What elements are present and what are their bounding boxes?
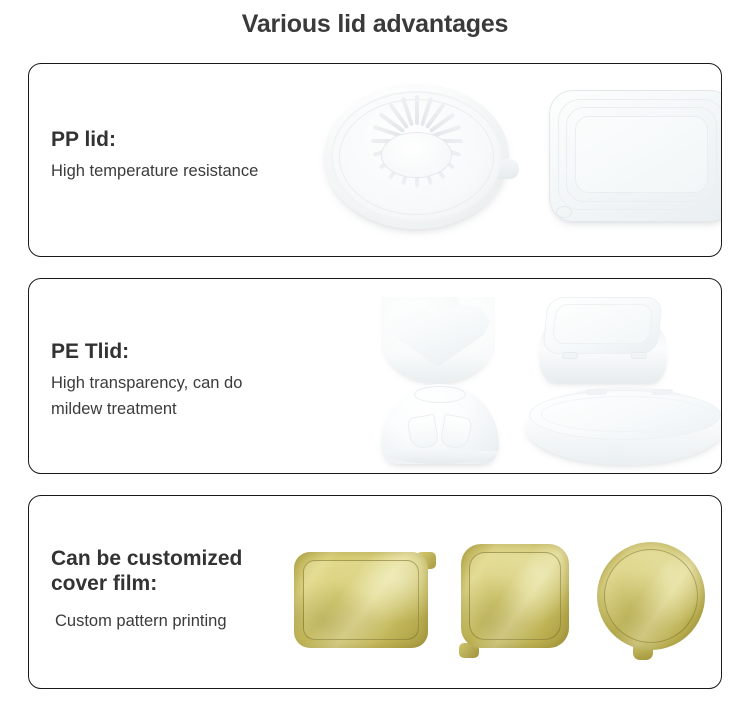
cover-film-text-block: Can be customized cover film: Custom pat… (51, 546, 276, 635)
rect-lid-center-panel (575, 116, 708, 193)
page-title: Various lid advantages (0, 10, 750, 39)
gold-round-lid-inner-panel (604, 549, 698, 643)
round-gold-foil-lid-image (595, 542, 713, 662)
card-customized-cover-film: Can be customized cover film: Custom pat… (28, 495, 722, 689)
oval-lid-tab (651, 389, 673, 395)
square-lid-center-panel (552, 304, 654, 344)
dome-lid-straw-hole (414, 386, 466, 404)
dome-pe-lid-image (381, 384, 499, 464)
square-pe-lid-image (539, 297, 667, 389)
pe-lid-description: High transparency, can do mildew treatme… (51, 371, 266, 422)
cover-film-description: Custom pattern printing (51, 609, 276, 635)
gold-rect-lid-inner-panel (303, 560, 419, 640)
pp-lid-text-block: PP lid: High temperature resistance (51, 127, 258, 185)
round-pp-lid-image (324, 84, 509, 229)
pp-lid-description: High temperature resistance (51, 159, 258, 185)
card-pp-lid: PP lid: High temperature resistance (28, 63, 722, 257)
rectangular-pp-lid-image (549, 90, 722, 222)
oval-lid-center-panel (541, 396, 709, 432)
heart-pe-lid-image (379, 297, 497, 389)
oval-lid-tab (605, 445, 627, 451)
pe-lid-heading: PE Tlid: (51, 339, 266, 364)
cover-film-heading: Can be customized cover film: (51, 546, 276, 596)
pe-lid-text-block: PE Tlid: High transparency, can do milde… (51, 339, 266, 422)
rectangular-gold-foil-lid-image (294, 548, 436, 651)
round-lid-center-panel (381, 132, 451, 178)
oval-pe-lid-image (525, 387, 722, 465)
square-gold-foil-lid-image (457, 544, 575, 660)
square-lid-tab (562, 352, 578, 359)
oval-lid-tab (585, 389, 607, 395)
card-pe-lid: PE Tlid: High transparency, can do milde… (28, 278, 722, 474)
square-lid-tab (631, 352, 647, 359)
round-lid-rib (415, 95, 419, 125)
gold-square-lid-inner-panel (469, 552, 561, 640)
pp-lid-heading: PP lid: (51, 127, 258, 152)
